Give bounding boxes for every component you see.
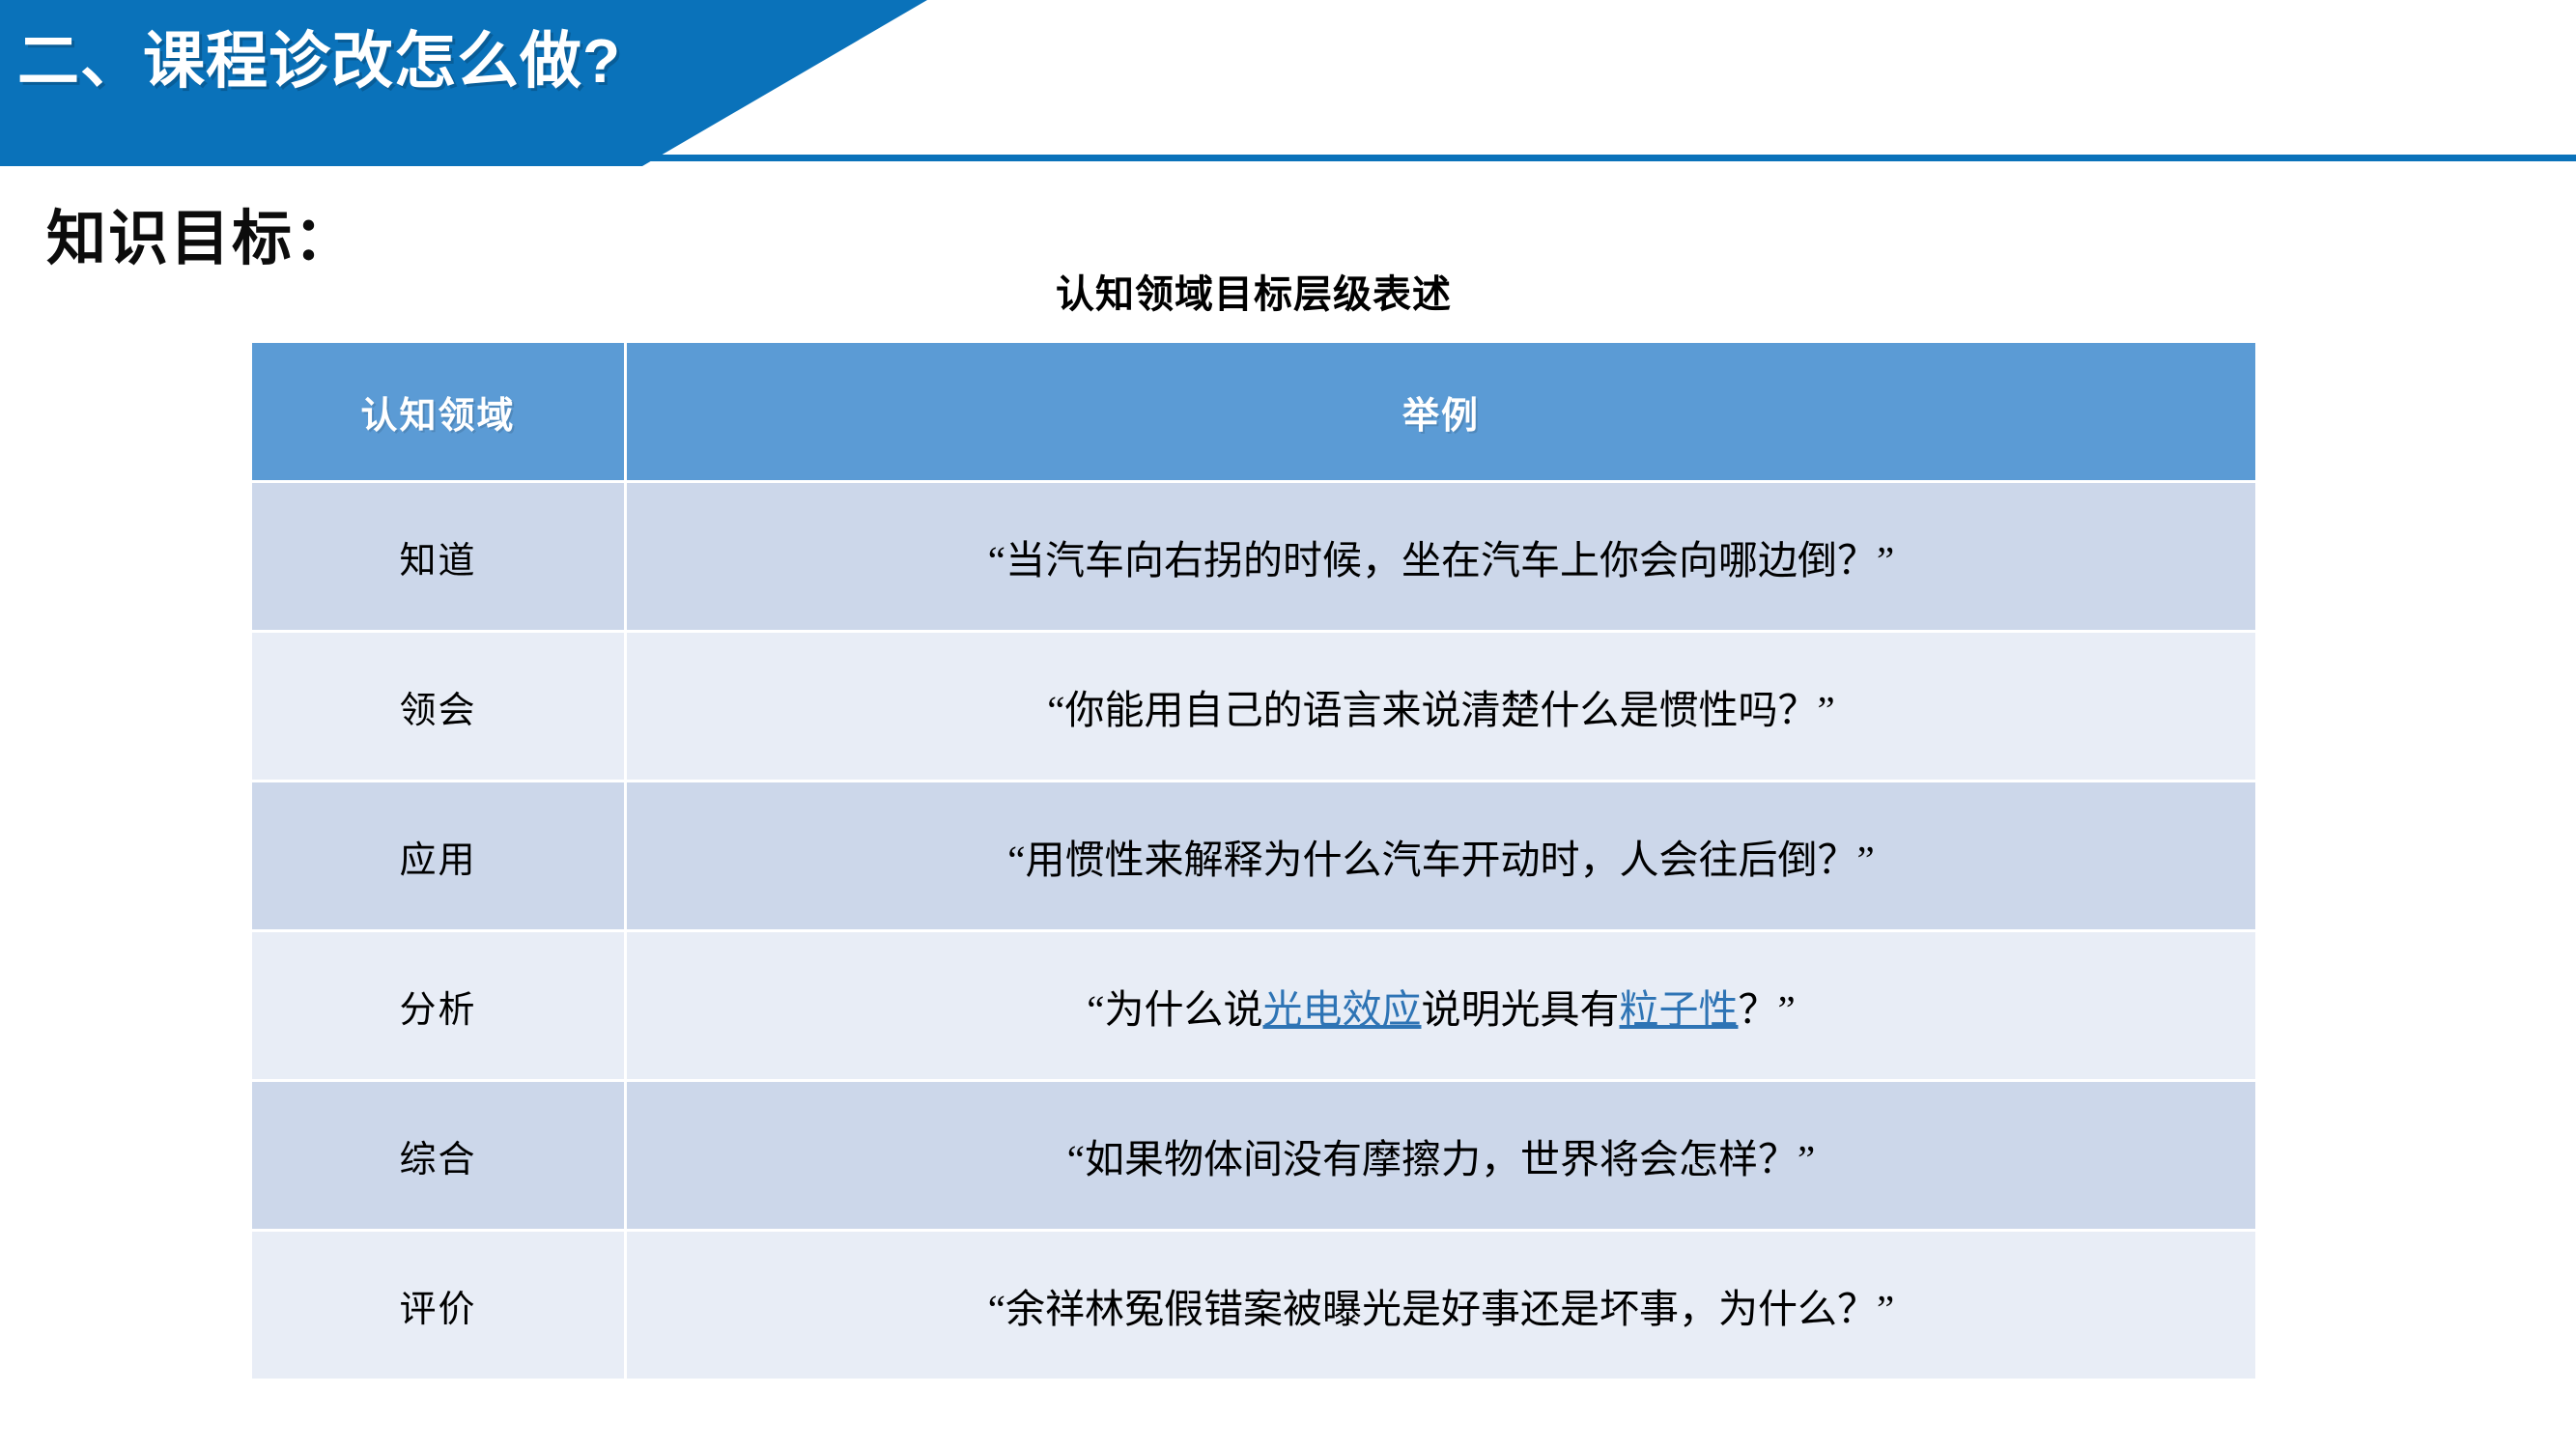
cell-domain: 综合 bbox=[252, 1082, 624, 1229]
example-text-middle: 说明光具有 bbox=[1422, 987, 1620, 1032]
example-text: “如果物体间没有摩擦力，世界将会怎样？” bbox=[1067, 1137, 1815, 1181]
cell-example: “如果物体间没有摩擦力，世界将会怎样？” bbox=[627, 1082, 2255, 1229]
column-header-example: 举例 bbox=[627, 343, 2255, 480]
cell-example: “当汽车向右拐的时候，坐在汽车上你会向哪边倒？” bbox=[627, 483, 2255, 630]
cell-example: “为什么说光电效应说明光具有粒子性？” bbox=[627, 932, 2255, 1079]
cell-domain: 评价 bbox=[252, 1232, 624, 1379]
cognitive-domain-table: 认知领域 举例 知道 “当汽车向右拐的时候，坐在汽车上你会向哪边倒？” 领会 “… bbox=[249, 340, 2258, 1381]
banner-title: 二、课程诊改怎么做? bbox=[17, 27, 887, 95]
table-row: 综合 “如果物体间没有摩擦力，世界将会怎样？” bbox=[252, 1082, 2255, 1229]
table-header-row: 认知领域 举例 bbox=[252, 343, 2255, 480]
example-text-suffix: ？” bbox=[1739, 987, 1796, 1032]
cell-domain: 知道 bbox=[252, 483, 624, 630]
example-text-prefix: “为什么说 bbox=[1087, 987, 1262, 1032]
cell-example: “你能用自己的语言来说清楚什么是惯性吗？” bbox=[627, 633, 2255, 780]
cell-domain: 领会 bbox=[252, 633, 624, 780]
hyperlink-photoelectric-effect[interactable]: 光电效应 bbox=[1263, 987, 1422, 1032]
example-text: “当汽车向右拐的时候，坐在汽车上你会向哪边倒？” bbox=[988, 538, 1894, 583]
hyperlink-particle-nature[interactable]: 粒子性 bbox=[1620, 987, 1739, 1032]
table-row: 应用 “用惯性来解释为什么汽车开动时，人会往后倒？” bbox=[252, 782, 2255, 929]
table-row: 分析 “为什么说光电效应说明光具有粒子性？” bbox=[252, 932, 2255, 1079]
example-text: “你能用自己的语言来说清楚什么是惯性吗？” bbox=[1047, 688, 1834, 732]
table-body: 知道 “当汽车向右拐的时候，坐在汽车上你会向哪边倒？” 领会 “你能用自己的语言… bbox=[252, 483, 2255, 1379]
example-text: “余祥林冤假错案被曝光是好事还是坏事，为什么？” bbox=[988, 1287, 1894, 1331]
table-row: 知道 “当汽车向右拐的时候，坐在汽车上你会向哪边倒？” bbox=[252, 483, 2255, 630]
banner-underline-rule bbox=[580, 155, 2576, 161]
cell-example: “用惯性来解释为什么汽车开动时，人会往后倒？” bbox=[627, 782, 2255, 929]
table-caption: 认知领域目标层级表述 bbox=[249, 263, 2258, 319]
column-header-domain: 认知领域 bbox=[252, 343, 624, 480]
example-text: “用惯性来解释为什么汽车开动时，人会往后倒？” bbox=[1007, 838, 1874, 882]
table-row: 领会 “你能用自己的语言来说清楚什么是惯性吗？” bbox=[252, 633, 2255, 780]
cell-example: “余祥林冤假错案被曝光是好事还是坏事，为什么？” bbox=[627, 1232, 2255, 1379]
table-row: 评价 “余祥林冤假错案被曝光是好事还是坏事，为什么？” bbox=[252, 1232, 2255, 1379]
cell-domain: 分析 bbox=[252, 932, 624, 1079]
slide-header-banner: 二、课程诊改怎么做? bbox=[0, 0, 2576, 169]
cell-domain: 应用 bbox=[252, 782, 624, 929]
table-header: 认知领域 举例 bbox=[252, 343, 2255, 480]
